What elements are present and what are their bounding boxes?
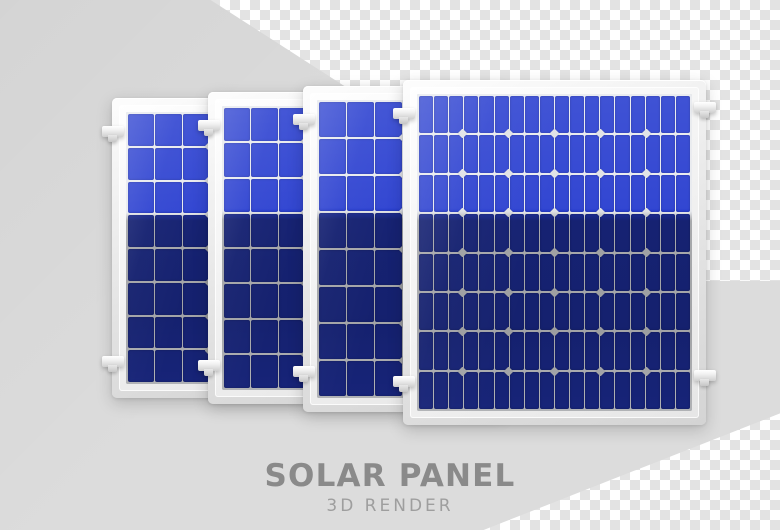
photovoltaic-cell bbox=[155, 317, 181, 349]
photovoltaic-cell bbox=[419, 372, 433, 409]
cell-group bbox=[419, 96, 463, 133]
photovoltaic-cell bbox=[615, 332, 629, 369]
cell-group bbox=[224, 214, 305, 247]
photovoltaic-cell bbox=[540, 214, 554, 251]
cell-group bbox=[419, 293, 463, 330]
photovoltaic-cell bbox=[525, 254, 539, 291]
photovoltaic-cell bbox=[631, 96, 645, 133]
photovoltaic-cell bbox=[347, 250, 374, 285]
photovoltaic-cell bbox=[661, 135, 675, 172]
photovoltaic-cell bbox=[585, 372, 599, 409]
cell-group bbox=[464, 332, 508, 369]
photovoltaic-cell bbox=[615, 372, 629, 409]
cell-group bbox=[419, 214, 463, 251]
photovoltaic-cell bbox=[661, 254, 675, 291]
photovoltaic-cell bbox=[479, 214, 493, 251]
cell-group bbox=[464, 96, 508, 133]
photovoltaic-cell bbox=[676, 293, 690, 330]
photovoltaic-cell bbox=[646, 135, 660, 172]
photovoltaic-cell bbox=[464, 96, 478, 133]
cell-group bbox=[600, 372, 644, 409]
photovoltaic-cell bbox=[676, 135, 690, 172]
cell-group bbox=[555, 96, 599, 133]
cell-row bbox=[419, 332, 690, 369]
photovoltaic-cell bbox=[279, 320, 305, 353]
cell-group bbox=[464, 135, 508, 172]
photovoltaic-cell bbox=[555, 332, 569, 369]
photovoltaic-cell bbox=[510, 254, 524, 291]
cell-group bbox=[555, 332, 599, 369]
photovoltaic-cell bbox=[224, 355, 250, 388]
photovoltaic-cell bbox=[251, 179, 277, 212]
photovoltaic-cell bbox=[525, 332, 539, 369]
photovoltaic-cell bbox=[183, 215, 209, 247]
photovoltaic-cell bbox=[347, 102, 374, 137]
photovoltaic-cell bbox=[676, 254, 690, 291]
cell-group bbox=[555, 372, 599, 409]
cell-group bbox=[464, 372, 508, 409]
photovoltaic-cell bbox=[155, 215, 181, 247]
photovoltaic-cell bbox=[419, 293, 433, 330]
photovoltaic-cell bbox=[510, 175, 524, 212]
photovoltaic-cell bbox=[555, 96, 569, 133]
photovoltaic-cell bbox=[585, 135, 599, 172]
bracket-bottom-left[interactable] bbox=[198, 360, 220, 371]
photovoltaic-cell bbox=[128, 317, 154, 349]
cell-group bbox=[128, 283, 209, 315]
cell-group bbox=[600, 96, 644, 133]
cell-group bbox=[419, 135, 463, 172]
bracket-top-right[interactable] bbox=[694, 102, 716, 113]
photovoltaic-cell bbox=[600, 332, 614, 369]
cell-group bbox=[128, 114, 209, 146]
cell-group bbox=[646, 135, 690, 172]
photovoltaic-cell bbox=[540, 135, 554, 172]
photovoltaic-cell bbox=[510, 293, 524, 330]
photovoltaic-cell bbox=[510, 332, 524, 369]
cell-group bbox=[646, 332, 690, 369]
cell-group bbox=[600, 254, 644, 291]
photovoltaic-cell bbox=[319, 324, 346, 359]
photovoltaic-cell bbox=[495, 254, 509, 291]
photovoltaic-cell bbox=[434, 293, 448, 330]
cell-group bbox=[128, 317, 209, 349]
photovoltaic-cell bbox=[631, 332, 645, 369]
photovoltaic-cell bbox=[434, 135, 448, 172]
photovoltaic-cell bbox=[464, 254, 478, 291]
photovoltaic-cell bbox=[646, 372, 660, 409]
photovoltaic-cell bbox=[631, 372, 645, 409]
photovoltaic-cell bbox=[585, 332, 599, 369]
cell-row bbox=[419, 135, 690, 172]
photovoltaic-cell bbox=[279, 284, 305, 317]
cell-group bbox=[646, 175, 690, 212]
cell-group bbox=[319, 139, 403, 174]
photovoltaic-cell bbox=[676, 175, 690, 212]
photovoltaic-cell bbox=[495, 175, 509, 212]
photovoltaic-cell bbox=[251, 320, 277, 353]
photovoltaic-cell bbox=[434, 372, 448, 409]
photovoltaic-cell bbox=[449, 332, 463, 369]
photovoltaic-cell bbox=[570, 175, 584, 212]
photovoltaic-cell bbox=[585, 254, 599, 291]
photovoltaic-cell bbox=[464, 135, 478, 172]
cell-group bbox=[510, 135, 554, 172]
photovoltaic-cell bbox=[585, 175, 599, 212]
photovoltaic-cell bbox=[570, 293, 584, 330]
photovoltaic-cell bbox=[479, 293, 493, 330]
photovoltaic-cell bbox=[676, 372, 690, 409]
cell-group bbox=[319, 176, 403, 211]
photovoltaic-cell bbox=[646, 254, 660, 291]
cell-group bbox=[128, 148, 209, 180]
photovoltaic-cell bbox=[449, 175, 463, 212]
photovoltaic-cell bbox=[319, 102, 346, 137]
photovoltaic-cell bbox=[495, 293, 509, 330]
photovoltaic-cell bbox=[525, 293, 539, 330]
photovoltaic-cell bbox=[585, 214, 599, 251]
photovoltaic-cell bbox=[555, 372, 569, 409]
cell-group bbox=[319, 361, 403, 396]
photovoltaic-cell bbox=[128, 114, 154, 146]
photovoltaic-cell bbox=[600, 214, 614, 251]
bracket-bottom-left[interactable] bbox=[102, 356, 124, 367]
photovoltaic-cell bbox=[661, 293, 675, 330]
photovoltaic-cell bbox=[434, 214, 448, 251]
photovoltaic-cell bbox=[449, 135, 463, 172]
photovoltaic-cell bbox=[495, 372, 509, 409]
photovoltaic-cell bbox=[479, 135, 493, 172]
cell-group bbox=[555, 214, 599, 251]
photovoltaic-cell bbox=[540, 254, 554, 291]
photovoltaic-cell bbox=[419, 332, 433, 369]
photovoltaic-cell bbox=[128, 215, 154, 247]
photovoltaic-cell bbox=[224, 143, 250, 176]
photovoltaic-cell bbox=[279, 214, 305, 247]
caption-block: SOLAR PANEL 3D RENDER bbox=[0, 460, 780, 516]
panel-glass bbox=[417, 94, 692, 411]
bracket-bottom-left[interactable] bbox=[393, 376, 415, 387]
photovoltaic-cell bbox=[279, 143, 305, 176]
photovoltaic-cell bbox=[600, 135, 614, 172]
photovoltaic-cell bbox=[615, 293, 629, 330]
cell-group bbox=[510, 96, 554, 133]
cell-group bbox=[600, 175, 644, 212]
photovoltaic-cell bbox=[631, 254, 645, 291]
photovoltaic-cell bbox=[347, 139, 374, 174]
photovoltaic-cell bbox=[661, 214, 675, 251]
photovoltaic-cell bbox=[183, 249, 209, 281]
cell-group bbox=[464, 175, 508, 212]
cell-group bbox=[510, 293, 554, 330]
photovoltaic-cell bbox=[585, 293, 599, 330]
cell-group bbox=[646, 214, 690, 251]
bracket-top-left[interactable] bbox=[102, 126, 124, 137]
photovoltaic-cell bbox=[540, 175, 554, 212]
photovoltaic-cell bbox=[375, 287, 402, 322]
cell-group bbox=[419, 175, 463, 212]
photovoltaic-cell bbox=[128, 283, 154, 315]
photovoltaic-cell bbox=[570, 214, 584, 251]
photovoltaic-cell bbox=[251, 108, 277, 141]
photovoltaic-cell bbox=[479, 254, 493, 291]
cell-group bbox=[464, 214, 508, 251]
photovoltaic-cell bbox=[570, 135, 584, 172]
cell-group bbox=[419, 372, 463, 409]
photovoltaic-cell bbox=[419, 175, 433, 212]
photovoltaic-cell bbox=[646, 175, 660, 212]
photovoltaic-cell bbox=[510, 372, 524, 409]
photovoltaic-cell bbox=[375, 139, 402, 174]
photovoltaic-cell bbox=[347, 287, 374, 322]
cell-row bbox=[419, 175, 690, 212]
photovoltaic-cell bbox=[347, 213, 374, 248]
photovoltaic-cell bbox=[525, 214, 539, 251]
cell-group bbox=[224, 320, 305, 353]
photovoltaic-cell bbox=[449, 372, 463, 409]
cell-group bbox=[128, 182, 209, 214]
photovoltaic-cell bbox=[375, 250, 402, 285]
photovoltaic-cell bbox=[570, 332, 584, 369]
photovoltaic-cell bbox=[600, 293, 614, 330]
photovoltaic-cell bbox=[525, 372, 539, 409]
photovoltaic-cell bbox=[375, 176, 402, 211]
cell-group bbox=[419, 332, 463, 369]
photovoltaic-cell bbox=[555, 175, 569, 212]
cell-group bbox=[224, 179, 305, 212]
photovoltaic-cell bbox=[646, 214, 660, 251]
cell-group bbox=[224, 249, 305, 282]
photovoltaic-cell bbox=[510, 96, 524, 133]
cell-group bbox=[510, 254, 554, 291]
photovoltaic-cell bbox=[419, 254, 433, 291]
photovoltaic-cell bbox=[434, 96, 448, 133]
photovoltaic-cell bbox=[495, 214, 509, 251]
cell-group bbox=[128, 350, 209, 382]
cell-group bbox=[464, 254, 508, 291]
photovoltaic-cell bbox=[661, 175, 675, 212]
photovoltaic-cell bbox=[646, 96, 660, 133]
cell-group bbox=[555, 175, 599, 212]
photovoltaic-cell bbox=[479, 332, 493, 369]
cell-group bbox=[319, 287, 403, 322]
photovoltaic-cell bbox=[224, 179, 250, 212]
cell-group bbox=[600, 214, 644, 251]
photovoltaic-cell bbox=[375, 324, 402, 359]
photovoltaic-cell bbox=[615, 254, 629, 291]
photovoltaic-cell bbox=[183, 317, 209, 349]
photovoltaic-cell bbox=[464, 332, 478, 369]
photovoltaic-cell bbox=[155, 182, 181, 214]
cell-group bbox=[224, 284, 305, 317]
photovoltaic-cell bbox=[479, 96, 493, 133]
photovoltaic-cell bbox=[183, 182, 209, 214]
cell-row bbox=[419, 96, 690, 133]
photovoltaic-cell bbox=[600, 175, 614, 212]
cell-group bbox=[319, 213, 403, 248]
photovoltaic-cell bbox=[128, 350, 154, 382]
photovoltaic-cell bbox=[464, 293, 478, 330]
photovoltaic-cell bbox=[615, 96, 629, 133]
bracket-top-left[interactable] bbox=[393, 108, 415, 119]
cell-group bbox=[319, 102, 403, 137]
photovoltaic-cell bbox=[155, 148, 181, 180]
photovoltaic-cell bbox=[419, 96, 433, 133]
photovoltaic-cell bbox=[540, 293, 554, 330]
photovoltaic-cell bbox=[676, 332, 690, 369]
cell-group bbox=[510, 175, 554, 212]
photovoltaic-cell bbox=[676, 214, 690, 251]
photovoltaic-cell bbox=[224, 108, 250, 141]
photovoltaic-cell bbox=[319, 361, 346, 396]
photovoltaic-cell bbox=[449, 214, 463, 251]
photovoltaic-cell bbox=[540, 96, 554, 133]
cell-group bbox=[510, 332, 554, 369]
photovoltaic-cell bbox=[419, 135, 433, 172]
photovoltaic-cell bbox=[434, 332, 448, 369]
cell-group bbox=[555, 293, 599, 330]
photovoltaic-cell bbox=[279, 249, 305, 282]
photovoltaic-cell bbox=[251, 249, 277, 282]
photovoltaic-cell bbox=[600, 254, 614, 291]
photovoltaic-cell bbox=[540, 372, 554, 409]
cell-row bbox=[419, 372, 690, 409]
photovoltaic-cell bbox=[224, 284, 250, 317]
photovoltaic-cell bbox=[525, 135, 539, 172]
photovoltaic-cell bbox=[631, 293, 645, 330]
cell-group bbox=[128, 215, 209, 247]
photovoltaic-cell bbox=[319, 250, 346, 285]
render-canvas: SOLAR PANEL 3D RENDER bbox=[0, 0, 780, 530]
photovoltaic-cell bbox=[615, 135, 629, 172]
photovoltaic-cell bbox=[464, 372, 478, 409]
cell-grid bbox=[417, 94, 692, 411]
cell-group bbox=[128, 249, 209, 281]
photovoltaic-cell bbox=[615, 214, 629, 251]
cell-group bbox=[600, 135, 644, 172]
photovoltaic-cell bbox=[319, 287, 346, 322]
photovoltaic-cell bbox=[510, 135, 524, 172]
photovoltaic-cell bbox=[600, 96, 614, 133]
photovoltaic-cell bbox=[347, 361, 374, 396]
cell-row bbox=[419, 214, 690, 251]
photovoltaic-cell bbox=[555, 214, 569, 251]
photovoltaic-cell bbox=[646, 332, 660, 369]
photovoltaic-cell bbox=[661, 96, 675, 133]
cell-group bbox=[646, 254, 690, 291]
photovoltaic-cell bbox=[449, 96, 463, 133]
photovoltaic-cell bbox=[128, 249, 154, 281]
photovoltaic-cell bbox=[525, 175, 539, 212]
photovoltaic-cell bbox=[479, 372, 493, 409]
cell-group bbox=[646, 293, 690, 330]
photovoltaic-cell bbox=[183, 283, 209, 315]
photovoltaic-cell bbox=[631, 214, 645, 251]
cell-group bbox=[510, 372, 554, 409]
photovoltaic-cell bbox=[224, 320, 250, 353]
cell-group bbox=[319, 250, 403, 285]
photovoltaic-cell bbox=[555, 293, 569, 330]
cell-group bbox=[600, 332, 644, 369]
bracket-top-left[interactable] bbox=[198, 120, 220, 131]
panel-front[interactable] bbox=[403, 80, 706, 425]
page-title: SOLAR PANEL bbox=[0, 460, 780, 493]
photovoltaic-cell bbox=[434, 175, 448, 212]
cell-row bbox=[419, 254, 690, 291]
photovoltaic-cell bbox=[540, 332, 554, 369]
cell-row bbox=[419, 293, 690, 330]
photovoltaic-cell bbox=[449, 254, 463, 291]
bracket-bottom-left[interactable] bbox=[293, 366, 315, 377]
photovoltaic-cell bbox=[479, 175, 493, 212]
photovoltaic-cell bbox=[631, 175, 645, 212]
cell-group bbox=[224, 143, 305, 176]
photovoltaic-cell bbox=[155, 283, 181, 315]
cell-group bbox=[555, 254, 599, 291]
photovoltaic-cell bbox=[347, 176, 374, 211]
cell-group bbox=[555, 135, 599, 172]
photovoltaic-cell bbox=[585, 96, 599, 133]
photovoltaic-cell bbox=[646, 293, 660, 330]
photovoltaic-cell bbox=[449, 293, 463, 330]
photovoltaic-cell bbox=[319, 213, 346, 248]
photovoltaic-cell bbox=[155, 249, 181, 281]
photovoltaic-cell bbox=[495, 332, 509, 369]
photovoltaic-cell bbox=[251, 143, 277, 176]
photovoltaic-cell bbox=[434, 254, 448, 291]
cell-group bbox=[419, 254, 463, 291]
photovoltaic-cell bbox=[183, 148, 209, 180]
photovoltaic-cell bbox=[319, 139, 346, 174]
cell-group bbox=[646, 372, 690, 409]
photovoltaic-cell bbox=[251, 355, 277, 388]
photovoltaic-cell bbox=[495, 135, 509, 172]
photovoltaic-cell bbox=[570, 254, 584, 291]
photovoltaic-cell bbox=[464, 175, 478, 212]
photovoltaic-cell bbox=[279, 179, 305, 212]
photovoltaic-cell bbox=[495, 96, 509, 133]
photovoltaic-cell bbox=[615, 175, 629, 212]
photovoltaic-cell bbox=[128, 182, 154, 214]
photovoltaic-cell bbox=[375, 213, 402, 248]
photovoltaic-cell bbox=[510, 214, 524, 251]
photovoltaic-cell bbox=[224, 214, 250, 247]
cell-group bbox=[319, 324, 403, 359]
cell-group bbox=[600, 293, 644, 330]
photovoltaic-cell bbox=[555, 135, 569, 172]
photovoltaic-cell bbox=[224, 249, 250, 282]
photovoltaic-cell bbox=[600, 372, 614, 409]
bracket-top-left[interactable] bbox=[293, 114, 315, 125]
cell-group bbox=[510, 214, 554, 251]
photovoltaic-cell bbox=[128, 148, 154, 180]
photovoltaic-cell bbox=[570, 372, 584, 409]
photovoltaic-cell bbox=[419, 214, 433, 251]
photovoltaic-cell bbox=[155, 114, 181, 146]
cell-group bbox=[646, 96, 690, 133]
photovoltaic-cell bbox=[155, 350, 181, 382]
page-subtitle: 3D RENDER bbox=[0, 496, 780, 516]
photovoltaic-cell bbox=[570, 96, 584, 133]
photovoltaic-cell bbox=[661, 372, 675, 409]
photovoltaic-cell bbox=[251, 284, 277, 317]
bracket-bottom-right[interactable] bbox=[694, 370, 716, 381]
photovoltaic-cell bbox=[464, 214, 478, 251]
photovoltaic-cell bbox=[631, 135, 645, 172]
photovoltaic-cell bbox=[319, 176, 346, 211]
photovoltaic-cell bbox=[251, 214, 277, 247]
photovoltaic-cell bbox=[347, 324, 374, 359]
